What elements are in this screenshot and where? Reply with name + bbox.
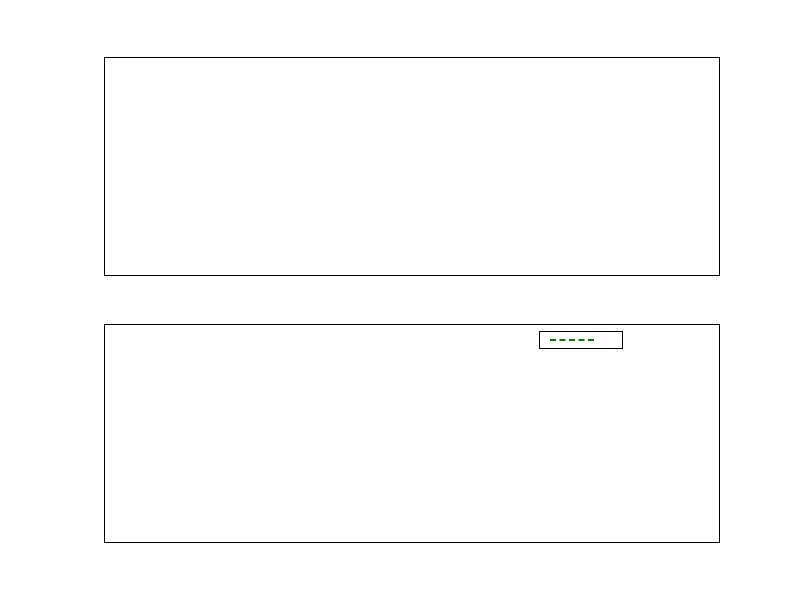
matplotlib-figure [0, 0, 800, 600]
histogram-bars [105, 58, 719, 275]
top-axes-differential-histogram [104, 57, 720, 276]
legend[interactable] [539, 331, 623, 349]
bottom-axes-cumulative-histogram [104, 324, 720, 543]
legend-dashed-line-icon [550, 339, 594, 341]
cumulative-curve-svg [105, 325, 719, 542]
